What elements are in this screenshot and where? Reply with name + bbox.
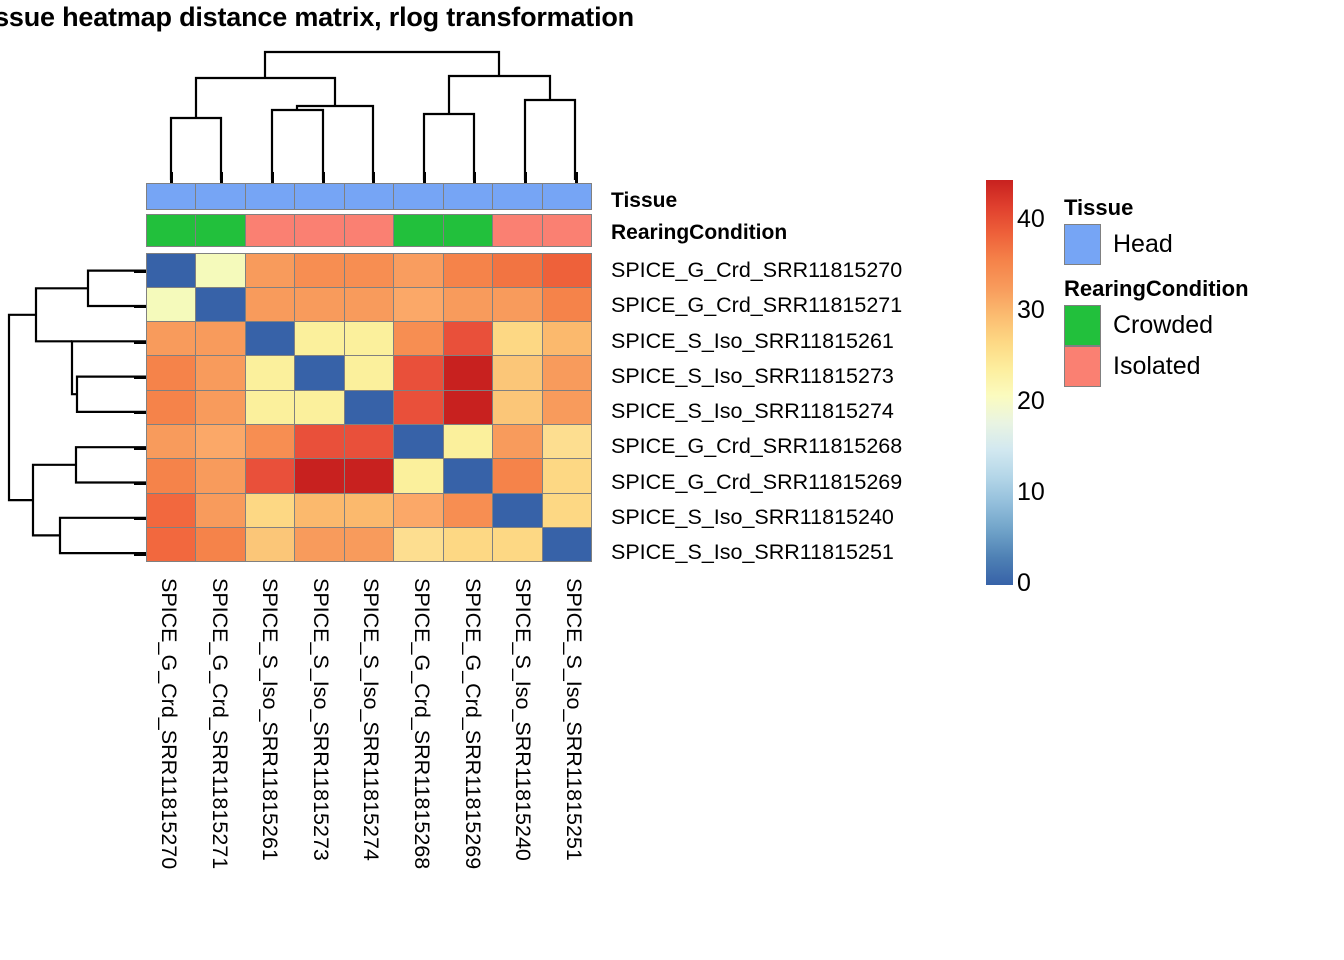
heatmap-cell[interactable] (294, 424, 345, 459)
heatmap-cell[interactable] (245, 321, 296, 356)
heatmap-cell[interactable] (195, 355, 246, 390)
row-tick (134, 553, 146, 556)
heatmap-cell[interactable] (393, 424, 444, 459)
heatmap-cell[interactable] (492, 390, 543, 425)
annotation-cell[interactable] (146, 183, 197, 210)
heatmap-cell[interactable] (245, 527, 296, 562)
colorbar-gradient (986, 180, 1013, 585)
row-label: SPICE_S_Iso_SRR11815240 (611, 500, 902, 535)
legend-label-head: Head (1113, 232, 1173, 257)
heatmap-cell[interactable] (245, 287, 296, 322)
heatmap-cell[interactable] (492, 493, 543, 528)
heatmap-cell[interactable] (146, 355, 197, 390)
heatmap-cell[interactable] (492, 287, 543, 322)
heatmap-cell[interactable] (492, 458, 543, 493)
column-label: SPICE_S_Iso_SRR11815273 (309, 578, 331, 861)
heatmap-cell[interactable] (245, 458, 296, 493)
row-tick (134, 517, 146, 520)
heatmap-cell[interactable] (195, 390, 246, 425)
annotation-cell[interactable] (344, 183, 395, 210)
heatmap-cell[interactable] (146, 424, 197, 459)
column-label: SPICE_S_Iso_SRR11815261 (259, 578, 281, 861)
heatmap-cell[interactable] (542, 527, 593, 562)
row-tick (134, 341, 146, 344)
legend-swatch-crowded (1064, 305, 1101, 346)
annotation-cell[interactable] (542, 214, 593, 247)
heatmap-cell[interactable] (195, 458, 246, 493)
colorbar-tick-label: 10 (1017, 480, 1063, 505)
heatmap-cell[interactable] (344, 253, 395, 288)
row-label: SPICE_S_Iso_SRR11815273 (611, 359, 902, 394)
heatmap-cell[interactable] (344, 424, 395, 459)
legend-title-rearing-condition: RearingCondition (1064, 278, 1249, 300)
heatmap-cell[interactable] (195, 321, 246, 356)
heatmap-cell[interactable] (542, 355, 593, 390)
heatmap-cell[interactable] (542, 493, 593, 528)
annotation-row-tissue (146, 183, 601, 209)
legend-swatch-head (1064, 224, 1101, 265)
heatmap-cell[interactable] (195, 424, 246, 459)
legend-label-crowded: Crowded (1113, 313, 1213, 338)
heatmap-cell[interactable] (344, 458, 395, 493)
heatmap-cell[interactable] (443, 321, 494, 356)
heatmap-cell[interactable] (443, 424, 494, 459)
heatmap-cell[interactable] (195, 527, 246, 562)
annotation-cell[interactable] (542, 183, 593, 210)
column-label: SPICE_S_Iso_SRR11815251 (562, 578, 584, 861)
row-tick (134, 482, 146, 485)
heatmap-cell[interactable] (492, 527, 543, 562)
annotation-cell[interactable] (443, 183, 494, 210)
heatmap-cell[interactable] (294, 390, 345, 425)
row-label: SPICE_G_Crd_SRR11815269 (611, 465, 902, 500)
annotation-row-rearing-condition (146, 214, 601, 246)
heatmap-row (146, 459, 601, 493)
heatmap-cell[interactable] (443, 390, 494, 425)
column-label: SPICE_G_Crd_SRR11815270 (158, 578, 180, 869)
heatmap-cell[interactable] (146, 390, 197, 425)
heatmap-cell[interactable] (344, 390, 395, 425)
heatmap-row (146, 425, 601, 459)
heatmap-cell[interactable] (294, 493, 345, 528)
row-tick (134, 411, 146, 414)
annotation-cell[interactable] (146, 214, 197, 247)
heatmap-row (146, 322, 601, 356)
heatmap-cell[interactable] (146, 321, 197, 356)
column-dendrogram (146, 48, 600, 180)
heatmap-cell[interactable] (294, 287, 345, 322)
annotation-cell[interactable] (294, 183, 345, 210)
row-tick (134, 270, 146, 273)
heatmap-cell[interactable] (492, 424, 543, 459)
annotation-cell[interactable] (492, 183, 543, 210)
heatmap-cell[interactable] (492, 321, 543, 356)
heatmap-cell[interactable] (294, 527, 345, 562)
legend-swatch-isolated (1064, 346, 1101, 387)
row-label-list: SPICE_G_Crd_SRR11815270SPICE_G_Crd_SRR11… (611, 253, 902, 571)
annotation-cell[interactable] (393, 183, 444, 210)
heatmap-cell[interactable] (344, 527, 395, 562)
heatmap-cell[interactable] (245, 253, 296, 288)
heatmap-cell[interactable] (146, 493, 197, 528)
heatmap-cell[interactable] (542, 390, 593, 425)
colorbar-tick-label: 20 (1017, 389, 1063, 414)
legend-rearing-condition: RearingCondition Crowded Isolated (1064, 278, 1249, 387)
heatmap-row (146, 493, 601, 527)
column-label: SPICE_G_Crd_SRR11815269 (461, 578, 483, 869)
row-tick (134, 376, 146, 379)
annotation-cell[interactable] (393, 214, 444, 247)
heatmap-cell[interactable] (393, 253, 444, 288)
heatmap-cell[interactable] (294, 253, 345, 288)
annotation-cell[interactable] (294, 214, 345, 247)
heatmap-cell[interactable] (542, 424, 593, 459)
heatmap-cell[interactable] (344, 493, 395, 528)
heatmap-cell[interactable] (443, 253, 494, 288)
heatmap-cell[interactable] (294, 458, 345, 493)
heatmap-cell[interactable] (393, 355, 444, 390)
heatmap-cell[interactable] (245, 355, 296, 390)
heatmap-row (146, 390, 601, 424)
legend-item-head[interactable]: Head (1064, 224, 1173, 265)
colorbar-tick-label: 0 (1017, 571, 1063, 596)
annotation-strips (146, 183, 601, 249)
heatmap-cell[interactable] (245, 390, 296, 425)
heatmap-cell[interactable] (542, 287, 593, 322)
heatmap-cell[interactable] (393, 390, 444, 425)
heatmap-cell[interactable] (492, 355, 543, 390)
heatmap-cell[interactable] (443, 493, 494, 528)
row-label: SPICE_G_Crd_SRR11815268 (611, 429, 902, 464)
row-label: SPICE_G_Crd_SRR11815270 (611, 253, 902, 288)
heatmap-cell[interactable] (443, 287, 494, 322)
heatmap-cell[interactable] (393, 493, 444, 528)
heatmap-cell[interactable] (393, 527, 444, 562)
heatmap-cell[interactable] (344, 321, 395, 356)
colorbar-tick-label: 30 (1017, 298, 1063, 323)
annotation-cell[interactable] (344, 214, 395, 247)
annotation-cell[interactable] (195, 183, 246, 210)
annotation-cell[interactable] (245, 183, 296, 210)
heatmap-cell[interactable] (443, 458, 494, 493)
heatmap-cell[interactable] (146, 458, 197, 493)
heatmap-row (146, 356, 601, 390)
heatmap-row (146, 287, 601, 321)
heatmap-cell[interactable] (344, 355, 395, 390)
heatmap-cell[interactable] (393, 321, 444, 356)
heatmap-cell[interactable] (542, 253, 593, 288)
heatmap-cell[interactable] (146, 287, 197, 322)
annotation-label-tissue: Tissue (611, 190, 677, 211)
heatmap-row (146, 253, 601, 287)
heatmap-cell[interactable] (393, 287, 444, 322)
heatmap-matrix (146, 253, 601, 571)
heatmap-cell[interactable] (195, 253, 246, 288)
column-label: SPICE_S_Iso_SRR11815274 (360, 578, 382, 861)
column-label: SPICE_S_Iso_SRR11815240 (512, 578, 534, 861)
row-label: SPICE_G_Crd_SRR11815271 (611, 288, 902, 323)
heatmap-cell[interactable] (195, 287, 246, 322)
page-title: tissue heatmap distance matrix, rlog tra… (0, 0, 978, 34)
heatmap-cell[interactable] (344, 287, 395, 322)
heatmap-cell[interactable] (245, 424, 296, 459)
heatmap-cell[interactable] (443, 527, 494, 562)
annotation-label-rearing-condition: RearingCondition (611, 222, 787, 243)
heatmap-cell[interactable] (542, 458, 593, 493)
heatmap-cell[interactable] (195, 493, 246, 528)
heatmap-cell[interactable] (393, 458, 444, 493)
heatmap-cell[interactable] (294, 355, 345, 390)
row-label: SPICE_S_Iso_SRR11815274 (611, 394, 902, 429)
column-label: SPICE_G_Crd_SRR11815268 (411, 578, 433, 869)
row-tick (134, 447, 146, 450)
column-label-list: SPICE_G_Crd_SRR11815270SPICE_G_Crd_SRR11… (146, 578, 601, 958)
legend-item-isolated[interactable]: Isolated (1064, 346, 1249, 387)
heatmap-cell[interactable] (146, 253, 197, 288)
heatmap-row (146, 528, 601, 562)
annotation-cell[interactable] (195, 214, 246, 247)
heatmap-cell[interactable] (542, 321, 593, 356)
legend-tissue: Tissue Head (1064, 197, 1173, 265)
heatmap-cell[interactable] (443, 355, 494, 390)
legend-item-crowded[interactable]: Crowded (1064, 305, 1249, 346)
heatmap-cell[interactable] (245, 493, 296, 528)
column-label: SPICE_G_Crd_SRR11815271 (208, 578, 230, 869)
legend-title-tissue: Tissue (1064, 197, 1173, 219)
heatmap-cell[interactable] (294, 321, 345, 356)
row-label: SPICE_S_Iso_SRR11815251 (611, 535, 902, 570)
annotation-cell[interactable] (245, 214, 296, 247)
heatmap-cell[interactable] (492, 253, 543, 288)
row-dendrogram (4, 253, 146, 571)
row-tick (134, 305, 146, 308)
annotation-cell[interactable] (443, 214, 494, 247)
annotation-cell[interactable] (492, 214, 543, 247)
heatmap-cell[interactable] (146, 527, 197, 562)
colorbar-tick-label: 40 (1017, 207, 1063, 232)
legend-label-isolated: Isolated (1113, 354, 1201, 379)
row-label: SPICE_S_Iso_SRR11815261 (611, 324, 902, 359)
